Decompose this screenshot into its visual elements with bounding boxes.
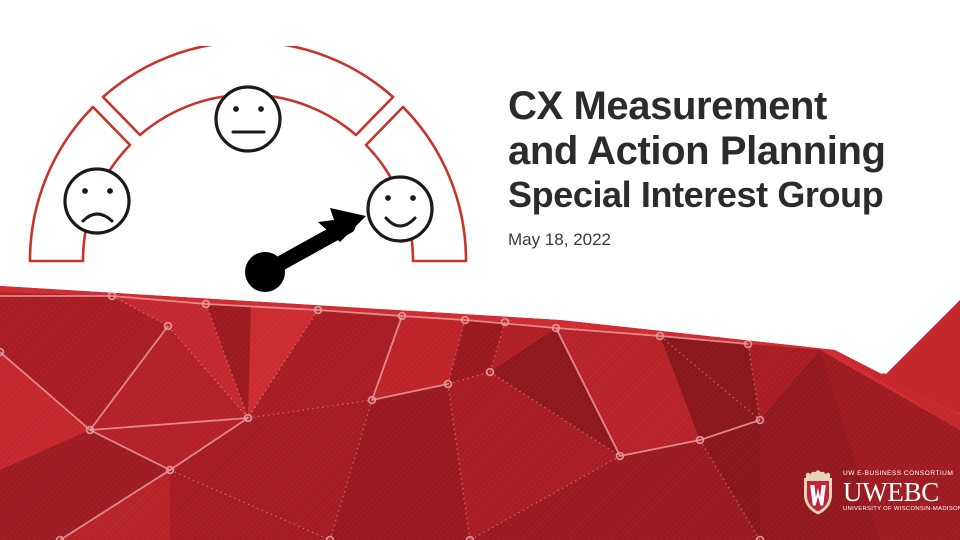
page-title-line-1: CX Measurement xyxy=(508,84,956,129)
uw-crest-icon xyxy=(800,469,836,515)
uwebc-logo: UW E-BUSINESS CONSORTIUM UWEBC UNIVERSIT… xyxy=(800,466,948,518)
page-title-line-2: and Action Planning xyxy=(508,129,956,174)
satisfaction-gauge xyxy=(18,46,478,296)
title-block: CX Measurement and Action Planning Speci… xyxy=(508,84,956,250)
sad-face-icon xyxy=(65,169,129,233)
logo-main-word: UWEBC xyxy=(843,479,960,506)
presentation-date: May 18, 2022 xyxy=(508,230,956,250)
logo-wordmark-group: UW E-BUSINESS CONSORTIUM UWEBC UNIVERSIT… xyxy=(843,471,960,513)
gauge-needle xyxy=(245,208,366,292)
happy-face-icon xyxy=(368,177,432,241)
logo-bottom-line: UNIVERSITY OF WISCONSIN-MADISON xyxy=(843,507,960,513)
neutral-face-icon xyxy=(216,87,280,151)
page-title-line-3: Special Interest Group xyxy=(508,174,956,216)
presentation-slide: CX Measurement and Action Planning Speci… xyxy=(0,0,960,540)
